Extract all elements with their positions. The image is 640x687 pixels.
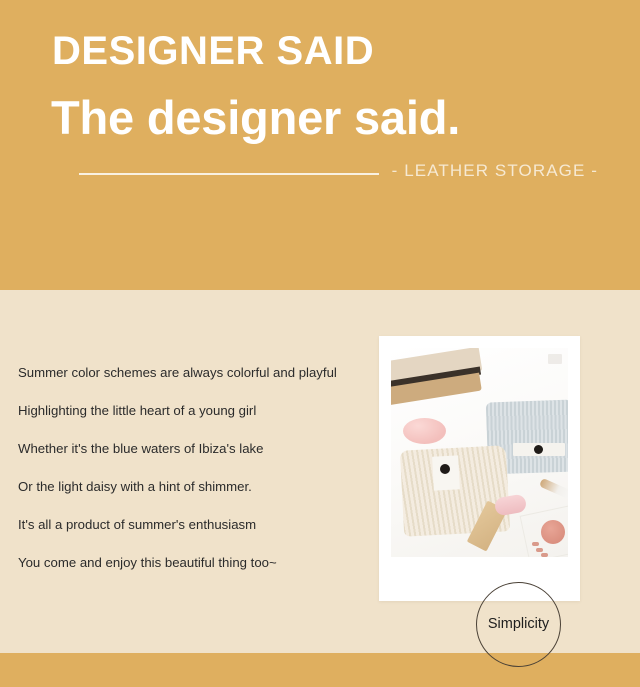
product-detail-page: DESIGNER SAID The designer said. - LEATH… — [0, 0, 640, 687]
simplicity-badge-label: Simplicity — [488, 617, 549, 632]
blush-swatch — [536, 548, 543, 552]
flower-clasp-icon — [440, 464, 450, 474]
description-line: Highlighting the little heart of a young… — [18, 404, 380, 442]
header-title-english: DESIGNER SAID — [52, 31, 374, 71]
description-line: Summer color schemes are always colorful… — [18, 366, 380, 404]
photo-watermark — [548, 354, 562, 364]
blush-swatch — [532, 542, 539, 546]
pink-compact-icon — [403, 418, 446, 444]
header-banner: DESIGNER SAID The designer said. - LEATH… — [0, 0, 640, 290]
description-text-block: Summer color schemes are always colorful… — [18, 366, 380, 594]
flower-clasp-icon — [534, 445, 543, 454]
product-photo — [391, 348, 568, 557]
product-photo-card — [379, 336, 580, 601]
simplicity-badge: Simplicity — [476, 582, 561, 667]
description-line: It's all a product of summer's enthusias… — [18, 518, 380, 556]
blush-swatch — [541, 553, 548, 557]
description-line: Or the light daisy with a hint of shimme… — [18, 480, 380, 518]
blush-pan — [541, 520, 565, 544]
header-subtitle: - LEATHER STORAGE - — [392, 162, 598, 179]
header-title-main: The designer said. — [51, 94, 460, 141]
description-line: You come and enjoy this beautiful thing … — [18, 556, 380, 594]
description-line: Whether it's the blue waters of Ibiza's … — [18, 442, 380, 480]
header-divider-rule — [79, 173, 379, 175]
